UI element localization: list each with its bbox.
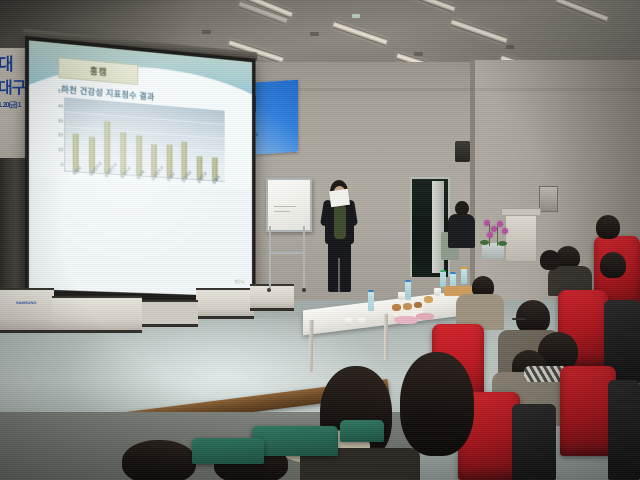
auditorium-seat-back bbox=[512, 404, 556, 480]
audience-head bbox=[122, 440, 196, 480]
orchid-flower bbox=[502, 228, 508, 234]
orchid-leaf bbox=[480, 240, 489, 245]
pastry bbox=[392, 304, 401, 311]
auditorium-seat-back bbox=[608, 380, 640, 480]
wall-cabinet bbox=[142, 300, 198, 327]
orchid-flower bbox=[491, 226, 497, 232]
projection-screen: 홍캠 하천 건강성 지표점수 결과 0 10 20 30 40 50 하랑교대부… bbox=[25, 36, 256, 318]
seated-man-right-head bbox=[455, 201, 469, 216]
orchid-flower bbox=[497, 221, 503, 227]
chart-x-label: 삼랑진교 bbox=[196, 177, 204, 185]
cabinet-brand-label: SAMSUNG bbox=[16, 300, 36, 305]
pastry bbox=[414, 302, 422, 308]
paper-cup bbox=[358, 318, 365, 326]
slide-header-badge-text: 홍캠 bbox=[90, 64, 108, 78]
presenter-papers bbox=[329, 189, 350, 207]
slide-logo: 연구소 bbox=[234, 279, 245, 285]
y-tick: 30 bbox=[58, 119, 63, 124]
front-row-seat bbox=[340, 420, 384, 442]
flipchart-leg bbox=[269, 226, 271, 288]
orchid-flower bbox=[487, 232, 493, 238]
audience-head bbox=[596, 215, 620, 239]
water-bottle bbox=[405, 280, 411, 300]
eyeglasses bbox=[512, 318, 526, 320]
chart-bars bbox=[65, 97, 225, 181]
chart-x-label: 남여랑수교 bbox=[104, 171, 112, 179]
flipchart-wheel bbox=[302, 288, 306, 292]
banner-left-line3: 1. 20(금) 1 bbox=[0, 100, 21, 110]
flipchart-wheel bbox=[267, 288, 271, 292]
y-tick: 50 bbox=[58, 89, 63, 94]
seated-man-right-body bbox=[448, 214, 475, 248]
front-row-seat bbox=[252, 426, 338, 456]
bar-chart: 0 10 20 30 40 50 bbox=[64, 97, 225, 182]
chart-x-label: 창천수교 bbox=[120, 172, 128, 180]
chart-x-label: 대부랑수교 bbox=[88, 170, 96, 178]
pastry bbox=[424, 296, 433, 303]
water-bottle bbox=[461, 267, 467, 284]
audience-head bbox=[400, 352, 474, 456]
chart-x-label: 금강정수교 bbox=[150, 174, 158, 182]
wall-control-box bbox=[539, 186, 558, 212]
flipchart-crossbar bbox=[269, 252, 305, 254]
doorway[interactable] bbox=[410, 177, 450, 277]
orchid-leaf bbox=[498, 241, 507, 246]
wall-speaker bbox=[455, 141, 470, 162]
auditorium-photo: 대 대구 · 1. 20(금) 1 발표회 표회 구대학교 한국대학교 홍캠 하… bbox=[0, 0, 640, 480]
chart-x-label: 하랑교 bbox=[72, 169, 80, 177]
orchid-flower bbox=[484, 220, 490, 226]
paper-cup bbox=[398, 292, 405, 300]
chart-x-label: 남수제 bbox=[135, 173, 143, 181]
napkin-pink bbox=[416, 313, 434, 320]
y-tick: 10 bbox=[58, 148, 63, 153]
flipchart-whiteboard bbox=[266, 178, 312, 232]
pastry bbox=[403, 303, 412, 310]
table-leg bbox=[384, 314, 388, 360]
audience-head bbox=[600, 252, 626, 278]
wall-cabinet bbox=[196, 288, 254, 319]
projected-slide: 홍캠 하천 건강성 지표점수 결과 0 10 20 30 40 50 하랑교대부… bbox=[29, 40, 252, 296]
wall-cabinet bbox=[250, 284, 294, 311]
chart-x-label: 청룡교 bbox=[211, 178, 219, 186]
chart-x-axis-labels: 하랑교대부랑수교남여랑수교창천수교남수제금강정수교안강교밀양대교삼랑진교청룡교 bbox=[64, 173, 224, 216]
napkin-pink bbox=[394, 316, 418, 324]
presenter-shirt bbox=[334, 205, 346, 239]
wall-cabinet bbox=[0, 288, 54, 333]
water-bottle bbox=[440, 270, 446, 287]
front-row-seat bbox=[192, 438, 264, 464]
chart-x-label: 안강교 bbox=[166, 175, 174, 183]
presenter-leg-gap bbox=[338, 258, 340, 292]
y-tick: 0 bbox=[61, 163, 64, 168]
audience-head bbox=[516, 300, 550, 334]
lectern-top bbox=[501, 208, 541, 216]
flipchart-leg bbox=[303, 226, 305, 288]
audience-head bbox=[540, 250, 560, 270]
lectern bbox=[505, 212, 537, 262]
banner-left-line1: 대 bbox=[0, 50, 13, 75]
paper-cup bbox=[345, 318, 352, 326]
paper-cup bbox=[434, 288, 441, 296]
y-tick: 40 bbox=[58, 104, 63, 109]
wall-cabinet bbox=[52, 296, 142, 333]
chart-x-label: 밀양대교 bbox=[181, 176, 189, 184]
y-tick: 20 bbox=[58, 133, 63, 138]
water-bottle bbox=[368, 290, 374, 311]
